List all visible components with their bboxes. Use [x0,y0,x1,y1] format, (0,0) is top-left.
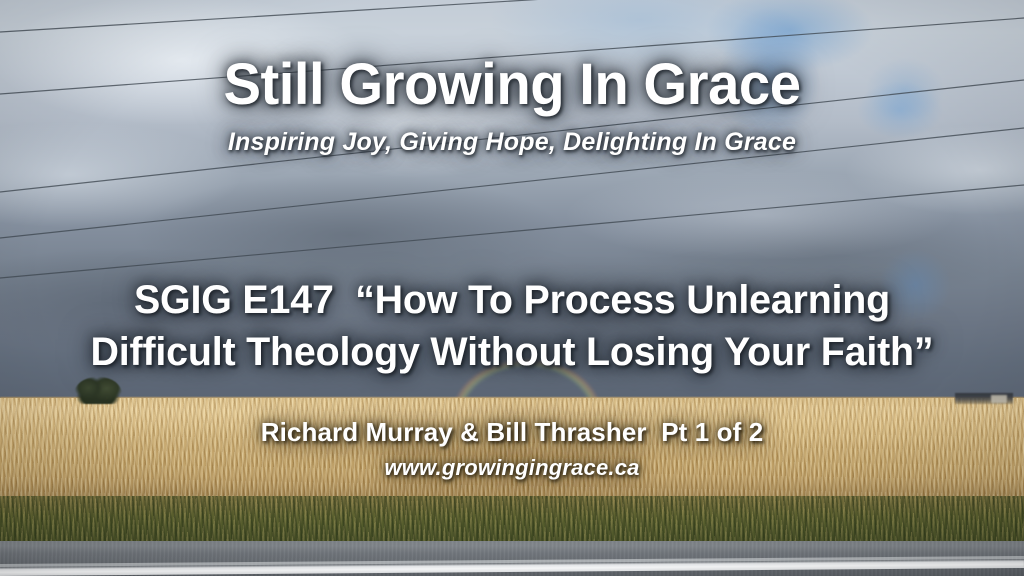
website-url: www.growingingrace.ca [0,456,1024,479]
presenters-and-part: Richard Murray & Bill Thrasher Pt 1 of 2 [0,419,1024,446]
horizon-tree [74,377,122,404]
roadside-grass-verge [0,496,1024,544]
asphalt-road [0,541,1024,576]
distant-farm-structure [955,393,1013,404]
episode-title-line-2: Difficult Theology Without Losing Your F… [8,331,1017,373]
power-line-wire [0,0,1024,32]
ministry-title: Still Growing In Grace [15,55,1008,116]
ministry-tagline: Inspiring Joy, Giving Hope, Delighting I… [0,129,1024,155]
episode-title-line-1: SGIG E147 “How To Process Unlearning [8,279,1017,321]
presentation-slide: Still Growing In Grace Inspiring Joy, Gi… [0,0,1024,576]
power-line-wire [0,185,1024,278]
